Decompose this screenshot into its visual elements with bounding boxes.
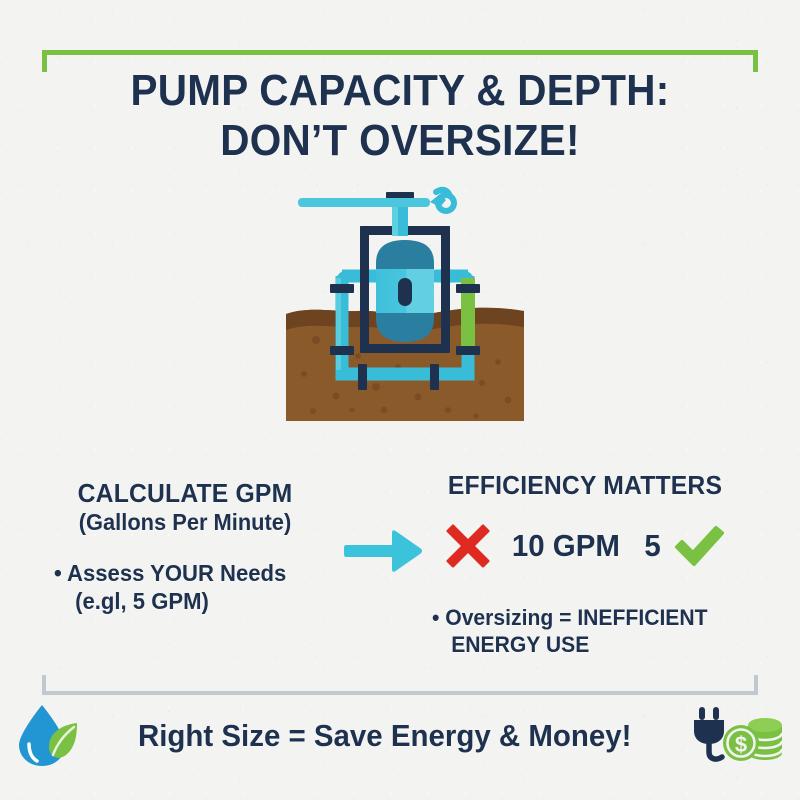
calculate-gpm-heading: CALCULATE GPM bbox=[47, 478, 323, 508]
calculate-gpm-bullet: • Assess YOUR Needs (e.gl, 5 GPM) bbox=[40, 559, 330, 615]
oversized-gpm-value: 10 GPM bbox=[511, 529, 619, 563]
tank-gauge-icon bbox=[398, 278, 412, 306]
pump-illustration bbox=[280, 178, 530, 428]
pump-illustration-svg bbox=[280, 178, 530, 428]
dollar-coin-icon: $ bbox=[723, 725, 759, 761]
plug-money-coins-icon: $ bbox=[691, 705, 783, 767]
red-x-icon bbox=[445, 523, 491, 569]
discharge-arm bbox=[298, 190, 454, 211]
efficiency-bullet-line-2: ENERGY USE bbox=[432, 631, 749, 658]
efficiency-column: EFFICIENCY MATTERS bbox=[410, 470, 760, 500]
right-sized-gpm-value: 5 bbox=[645, 529, 661, 563]
pump-tank bbox=[376, 240, 434, 342]
calculate-gpm-subheading: (Gallons Per Minute) bbox=[47, 508, 323, 537]
efficiency-bullet-line-1: • Oversizing = INEFFICIENT bbox=[432, 604, 749, 631]
footer-tagline: Right Size = Save Energy & Money! bbox=[138, 718, 631, 754]
svg-text:$: $ bbox=[735, 732, 747, 757]
efficiency-comparison-row: 10 GPM 5 bbox=[410, 515, 760, 577]
calculate-gpm-bullet-line-1: • Assess YOUR Needs bbox=[54, 559, 319, 587]
green-check-icon bbox=[673, 524, 725, 568]
infographic-canvas: PUMP CAPACITY & DEPTH: DON’T OVERSIZE! bbox=[0, 0, 800, 800]
plug-icon bbox=[694, 707, 724, 759]
bottom-gray-bracket bbox=[42, 675, 758, 695]
footer-bar: Right Size = Save Energy & Money! $ bbox=[0, 696, 800, 776]
title-line-2: DON’T OVERSIZE! bbox=[32, 116, 768, 166]
efficiency-bullet: • Oversizing = INEFFICIENT ENERGY USE bbox=[432, 604, 762, 658]
title-line-1: PUMP CAPACITY & DEPTH: bbox=[32, 66, 768, 116]
calculate-gpm-column: CALCULATE GPM (Gallons Per Minute) • Ass… bbox=[40, 478, 330, 615]
page-title: PUMP CAPACITY & DEPTH: DON’T OVERSIZE! bbox=[0, 66, 800, 166]
efficiency-heading: EFFICIENCY MATTERS bbox=[419, 470, 752, 500]
calculate-gpm-bullet-line-2: (e.gl, 5 GPM) bbox=[54, 587, 319, 615]
valve-handle-icon bbox=[438, 195, 454, 211]
water-drop-leaf-icon bbox=[17, 703, 79, 769]
